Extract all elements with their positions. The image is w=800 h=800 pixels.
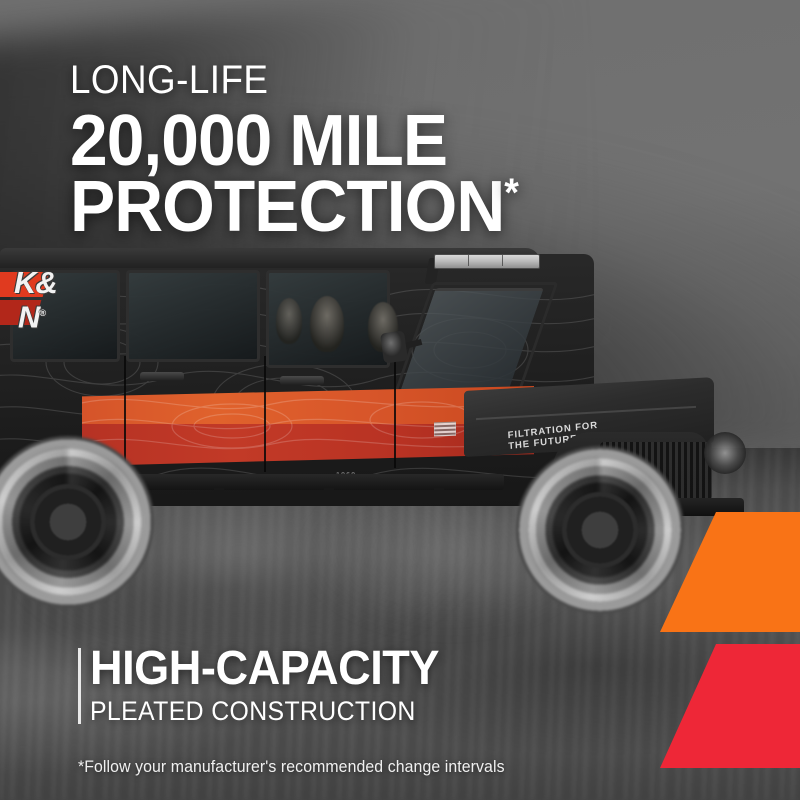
main-headline: 20,000 MILE PROTECTION* <box>70 108 634 240</box>
eyebrow-text: LONG-LIFE <box>70 58 622 102</box>
vertical-rule-divider <box>78 648 81 724</box>
asterisk-mark: * <box>504 171 518 215</box>
step-bracket <box>214 488 224 504</box>
advertisement-banner: 1969 FILTRATION FOR THE FUTURE. <box>0 0 800 800</box>
side-mirror <box>380 330 408 363</box>
door-seam <box>264 356 266 472</box>
rocker-panel <box>104 474 504 490</box>
kn-logo-line1: K& <box>14 265 57 300</box>
lightbar-divider <box>468 255 469 266</box>
kn-logo: K& N® <box>0 268 106 332</box>
jeep-vehicle: 1969 FILTRATION FOR THE FUTURE. <box>0 236 784 646</box>
mid-side-window <box>126 270 260 362</box>
footnote-disclaimer: *Follow your manufacturer's recommended … <box>78 758 505 777</box>
kn-logo-text: K& N® <box>14 268 57 332</box>
kn-logo-line2: N® <box>18 298 57 332</box>
door-seam <box>394 356 396 468</box>
step-bracket <box>434 488 444 504</box>
step-bracket <box>324 488 334 504</box>
passenger-silhouette <box>310 296 344 352</box>
subheadline-subtitle: PLEATED CONSTRUCTION <box>90 696 660 726</box>
passenger-silhouette <box>276 298 302 344</box>
subheadline-block: HIGH-CAPACITY PLEATED CONSTRUCTION <box>70 644 710 726</box>
headlamp <box>704 432 746 474</box>
front-wheel-hub <box>562 492 638 568</box>
door-handle <box>280 376 324 385</box>
headline-block: LONG-LIFE 20,000 MILE PROTECTION* <box>70 58 670 240</box>
lightbar-divider <box>502 255 503 266</box>
subheadline-title: HIGH-CAPACITY <box>90 644 673 694</box>
registered-mark-icon: ® <box>39 308 45 318</box>
rear-wheel-hub <box>30 484 106 560</box>
door-seam <box>124 356 126 468</box>
headline-line-2: PROTECTION* <box>70 174 634 240</box>
door-handle <box>140 372 184 381</box>
flag-decal <box>434 422 456 437</box>
roof-lightbar <box>434 254 540 269</box>
